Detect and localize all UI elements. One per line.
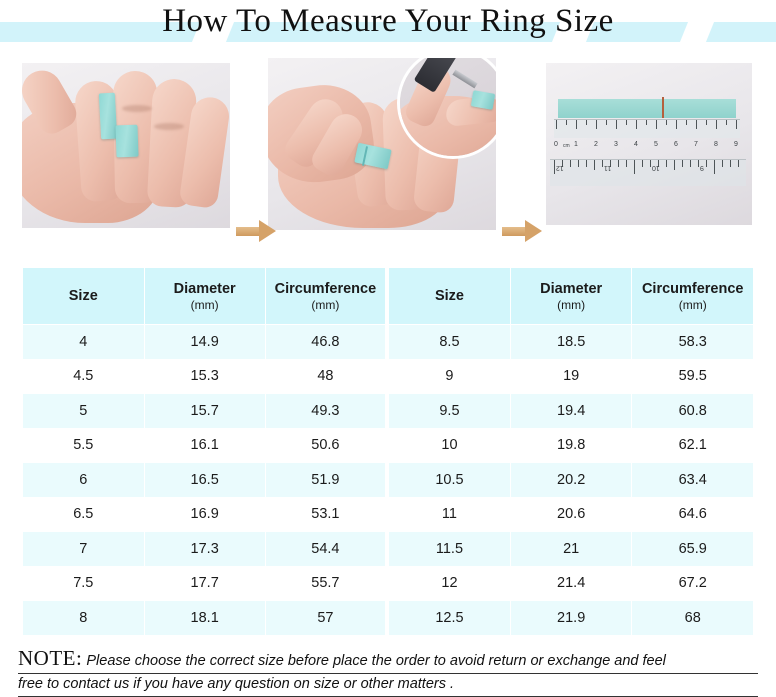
table-row: 11.5 21 65.9: [389, 532, 754, 567]
ruler-tick: [596, 120, 597, 129]
cell-circumference: 51.9: [265, 463, 386, 498]
ruler-tick: [666, 120, 667, 125]
magnified-inset: [400, 58, 496, 156]
ruler-tick: [618, 160, 619, 167]
cell-diameter: 18.1: [144, 601, 265, 636]
ruler-tick: [674, 160, 675, 170]
page-header: How To Measure Your Ring Size: [0, 0, 776, 56]
cell-size: 11.5: [389, 532, 511, 567]
column-header-circumference-unit: (mm): [266, 298, 385, 312]
ruler-label-5: 5: [654, 141, 658, 149]
cell-circumference: 58.3: [632, 325, 754, 360]
column-header-size: Size: [389, 268, 511, 325]
size-table-right-body: 8.5 18.5 58.3 9 19 59.5 9.5 19.4 60.8 10…: [389, 325, 754, 636]
column-header-circumference: Circumference (mm): [632, 268, 754, 325]
ring-size-table: Size Diameter (mm) Circumference (mm) 4 …: [22, 267, 754, 636]
cell-diameter: 14.9: [144, 325, 265, 360]
table-header-row: Size Diameter (mm) Circumference (mm): [389, 268, 754, 325]
column-header-diameter-unit: (mm): [145, 298, 265, 312]
cell-size: 4.5: [23, 359, 145, 394]
table-row: 10.5 20.2 63.4: [389, 463, 754, 498]
ruler-tick: [726, 120, 727, 125]
ruler-tick: [606, 120, 607, 125]
size-table-left: Size Diameter (mm) Circumference (mm) 4 …: [22, 267, 388, 636]
cell-circumference: 55.7: [265, 566, 386, 601]
cell-circumference: 68: [632, 601, 754, 636]
ruler-label-2: 2: [594, 141, 598, 149]
table-row: 8.5 18.5 58.3: [389, 325, 754, 360]
cell-size: 4: [23, 325, 145, 360]
size-table-right: Size Diameter (mm) Circumference (mm) 8.…: [388, 267, 754, 636]
cell-diameter: 17.3: [144, 532, 265, 567]
ruler-tick: [656, 120, 657, 129]
cell-circumference: 60.8: [632, 394, 754, 429]
paper-strip-front: [99, 93, 117, 140]
note-section: NOTE: Please choose the correct size bef…: [18, 648, 758, 697]
cell-size: 8.5: [389, 325, 511, 360]
ruler-tick: [642, 160, 643, 167]
table-row: 7 17.3 54.4: [23, 532, 387, 567]
cell-diameter: 15.7: [144, 394, 265, 429]
cell-circumference: 62.1: [632, 428, 754, 463]
table-row: 8 18.1 57: [23, 601, 387, 636]
ruler-label-1: 1: [574, 141, 578, 149]
page-title: How To Measure Your Ring Size: [0, 0, 776, 42]
cell-size: 6: [23, 463, 145, 498]
cell-diameter: 21.9: [510, 601, 632, 636]
column-header-diameter-label: Diameter: [174, 281, 236, 297]
ruler-tick: [636, 120, 637, 129]
ruler-inv-label-10: 10: [652, 163, 660, 171]
ruler-tick: [570, 160, 571, 167]
cell-circumference: 49.3: [265, 394, 386, 429]
ruler-tick: [626, 160, 627, 167]
cell-size: 10: [389, 428, 511, 463]
cell-size: 5: [23, 394, 145, 429]
ruler-tick: [586, 160, 587, 167]
column-header-size-label: Size: [69, 288, 98, 304]
cell-diameter: 15.3: [144, 359, 265, 394]
cell-circumference: 53.1: [265, 497, 386, 532]
table-row: 10 19.8 62.1: [389, 428, 754, 463]
ruler-inv-label-9: 9: [700, 163, 704, 171]
table-header-row: Size Diameter (mm) Circumference (mm): [23, 268, 387, 325]
note-line-1: NOTE: Please choose the correct size bef…: [18, 648, 758, 674]
ruler-tick: [676, 120, 677, 129]
cell-diameter: 17.7: [144, 566, 265, 601]
cell-circumference: 63.4: [632, 463, 754, 498]
ruler-label-4: 4: [634, 141, 638, 149]
pen-tip: [452, 70, 477, 89]
arrow-head-icon: [259, 220, 276, 242]
ruler-tick: [714, 160, 715, 174]
ruler-label-9: 9: [734, 141, 738, 149]
cell-size: 9: [389, 359, 511, 394]
column-header-diameter: Diameter (mm): [510, 268, 632, 325]
knuckle-shadow-1: [122, 105, 152, 112]
table-row: 7.5 17.7 55.7: [23, 566, 387, 601]
ruler-tick: [556, 120, 557, 129]
column-header-circumference: Circumference (mm): [265, 268, 386, 325]
table-row: 4.5 15.3 48: [23, 359, 387, 394]
ruler-inv-label-12: 12: [556, 163, 564, 171]
table-row: 11 20.6 64.6: [389, 497, 754, 532]
ruler-tick: [566, 120, 567, 125]
step-3-photo: 0 cm 1 2 3 4 5 6 7 8 9: [546, 63, 752, 225]
cell-circumference: 57: [265, 601, 386, 636]
ruler-tick: [722, 160, 723, 167]
note-text-line-2: free to contact us if you have any quest…: [18, 676, 454, 692]
cell-diameter: 20.6: [510, 497, 632, 532]
ruler-tick: [686, 120, 687, 125]
cell-size: 8: [23, 601, 145, 636]
cell-diameter: 20.2: [510, 463, 632, 498]
ruler-inv-label-11: 11: [604, 163, 611, 171]
ruler-tick: [578, 160, 579, 167]
column-header-diameter-label: Diameter: [540, 281, 602, 297]
ruler-tick: [646, 120, 647, 125]
ruler-tick: [626, 120, 627, 125]
ruler-tick: [586, 120, 587, 125]
column-header-circumference-label: Circumference: [275, 281, 377, 297]
ruler-tick: [730, 160, 731, 167]
cell-diameter: 21: [510, 532, 632, 567]
table-row: 12.5 21.9 68: [389, 601, 754, 636]
table-row: 5 15.7 49.3: [23, 394, 387, 429]
ruler-label-6: 6: [674, 141, 678, 149]
ruler-tick: [706, 120, 707, 125]
cell-circumference: 67.2: [632, 566, 754, 601]
ruler-bottom-scale: [550, 159, 746, 186]
column-header-size: Size: [23, 268, 145, 325]
table-row: 6.5 16.9 53.1: [23, 497, 387, 532]
ruler-top-scale: [554, 119, 740, 138]
paper-strip-wrap: [115, 125, 138, 158]
ruler-tick: [696, 120, 697, 129]
cell-diameter: 21.4: [510, 566, 632, 601]
arrow-head-icon: [525, 220, 542, 242]
ruler-tick: [682, 160, 683, 167]
table-row: 5.5 16.1 50.6: [23, 428, 387, 463]
ruler-label-7: 7: [694, 141, 698, 149]
cell-size: 9.5: [389, 394, 511, 429]
cell-size: 12: [389, 566, 511, 601]
measured-paper-strip: [558, 99, 736, 118]
ruler-label-3: 3: [614, 141, 618, 149]
cell-circumference: 65.9: [632, 532, 754, 567]
column-header-circumference-label: Circumference: [642, 281, 744, 297]
cell-size: 12.5: [389, 601, 511, 636]
cell-diameter: 19.8: [510, 428, 632, 463]
column-header-circumference-unit: (mm): [632, 298, 753, 312]
cell-size: 11: [389, 497, 511, 532]
table-row: 12 21.4 67.2: [389, 566, 754, 601]
column-header-size-label: Size: [435, 288, 464, 304]
table-row: 6 16.5 51.9: [23, 463, 387, 498]
cell-circumference: 59.5: [632, 359, 754, 394]
note-text-line-1: Please choose the correct size before pl…: [82, 653, 666, 669]
step-arrow-2: [502, 220, 542, 242]
cell-size: 6.5: [23, 497, 145, 532]
ruler-tick: [716, 120, 717, 129]
ruler-tick: [736, 120, 737, 129]
cell-diameter: 19: [510, 359, 632, 394]
ruler-label-0: 0: [554, 141, 558, 149]
ruler-tick: [706, 160, 707, 167]
ruler-tick: [594, 160, 595, 170]
cell-circumference: 46.8: [265, 325, 386, 360]
note-label: NOTE:: [18, 646, 82, 670]
cell-circumference: 48: [265, 359, 386, 394]
step-1-photo: [22, 63, 230, 228]
size-table-left-body: 4 14.9 46.8 4.5 15.3 48 5 15.7 49.3 5.5 …: [23, 325, 387, 636]
table-row: 9 19 59.5: [389, 359, 754, 394]
cell-diameter: 16.9: [144, 497, 265, 532]
arrow-shaft: [502, 227, 527, 236]
table-row: 4 14.9 46.8: [23, 325, 387, 360]
ruler-unit-label: cm: [563, 142, 570, 150]
arrow-shaft: [236, 227, 261, 236]
cell-size: 7.5: [23, 566, 145, 601]
step-2-photo: [268, 58, 496, 230]
cell-circumference: 54.4: [265, 532, 386, 567]
cell-circumference: 50.6: [265, 428, 386, 463]
ruler-tick: [602, 160, 603, 167]
strip-pen-mark: [662, 97, 664, 118]
cell-diameter: 19.4: [510, 394, 632, 429]
ruler-tick: [576, 120, 577, 129]
knuckle-shadow-2: [154, 123, 184, 130]
ruler-tick: [616, 120, 617, 129]
column-header-diameter: Diameter (mm): [144, 268, 265, 325]
ruler-tick: [738, 160, 739, 167]
ruler-tick: [634, 160, 635, 174]
cell-circumference: 64.6: [632, 497, 754, 532]
ruler-tick: [690, 160, 691, 167]
note-line-2: free to contact us if you have any quest…: [18, 674, 758, 697]
cell-size: 7: [23, 532, 145, 567]
cell-size: 5.5: [23, 428, 145, 463]
ruler-tick: [666, 160, 667, 167]
cell-size: 10.5: [389, 463, 511, 498]
cell-diameter: 16.1: [144, 428, 265, 463]
column-header-diameter-unit: (mm): [511, 298, 632, 312]
cell-diameter: 18.5: [510, 325, 632, 360]
measurement-steps: 0 cm 1 2 3 4 5 6 7 8 9: [0, 58, 776, 258]
ruler-tick: [698, 160, 699, 167]
step-arrow-1: [236, 220, 276, 242]
ruler-label-8: 8: [714, 141, 718, 149]
table-row: 9.5 19.4 60.8: [389, 394, 754, 429]
cell-diameter: 16.5: [144, 463, 265, 498]
